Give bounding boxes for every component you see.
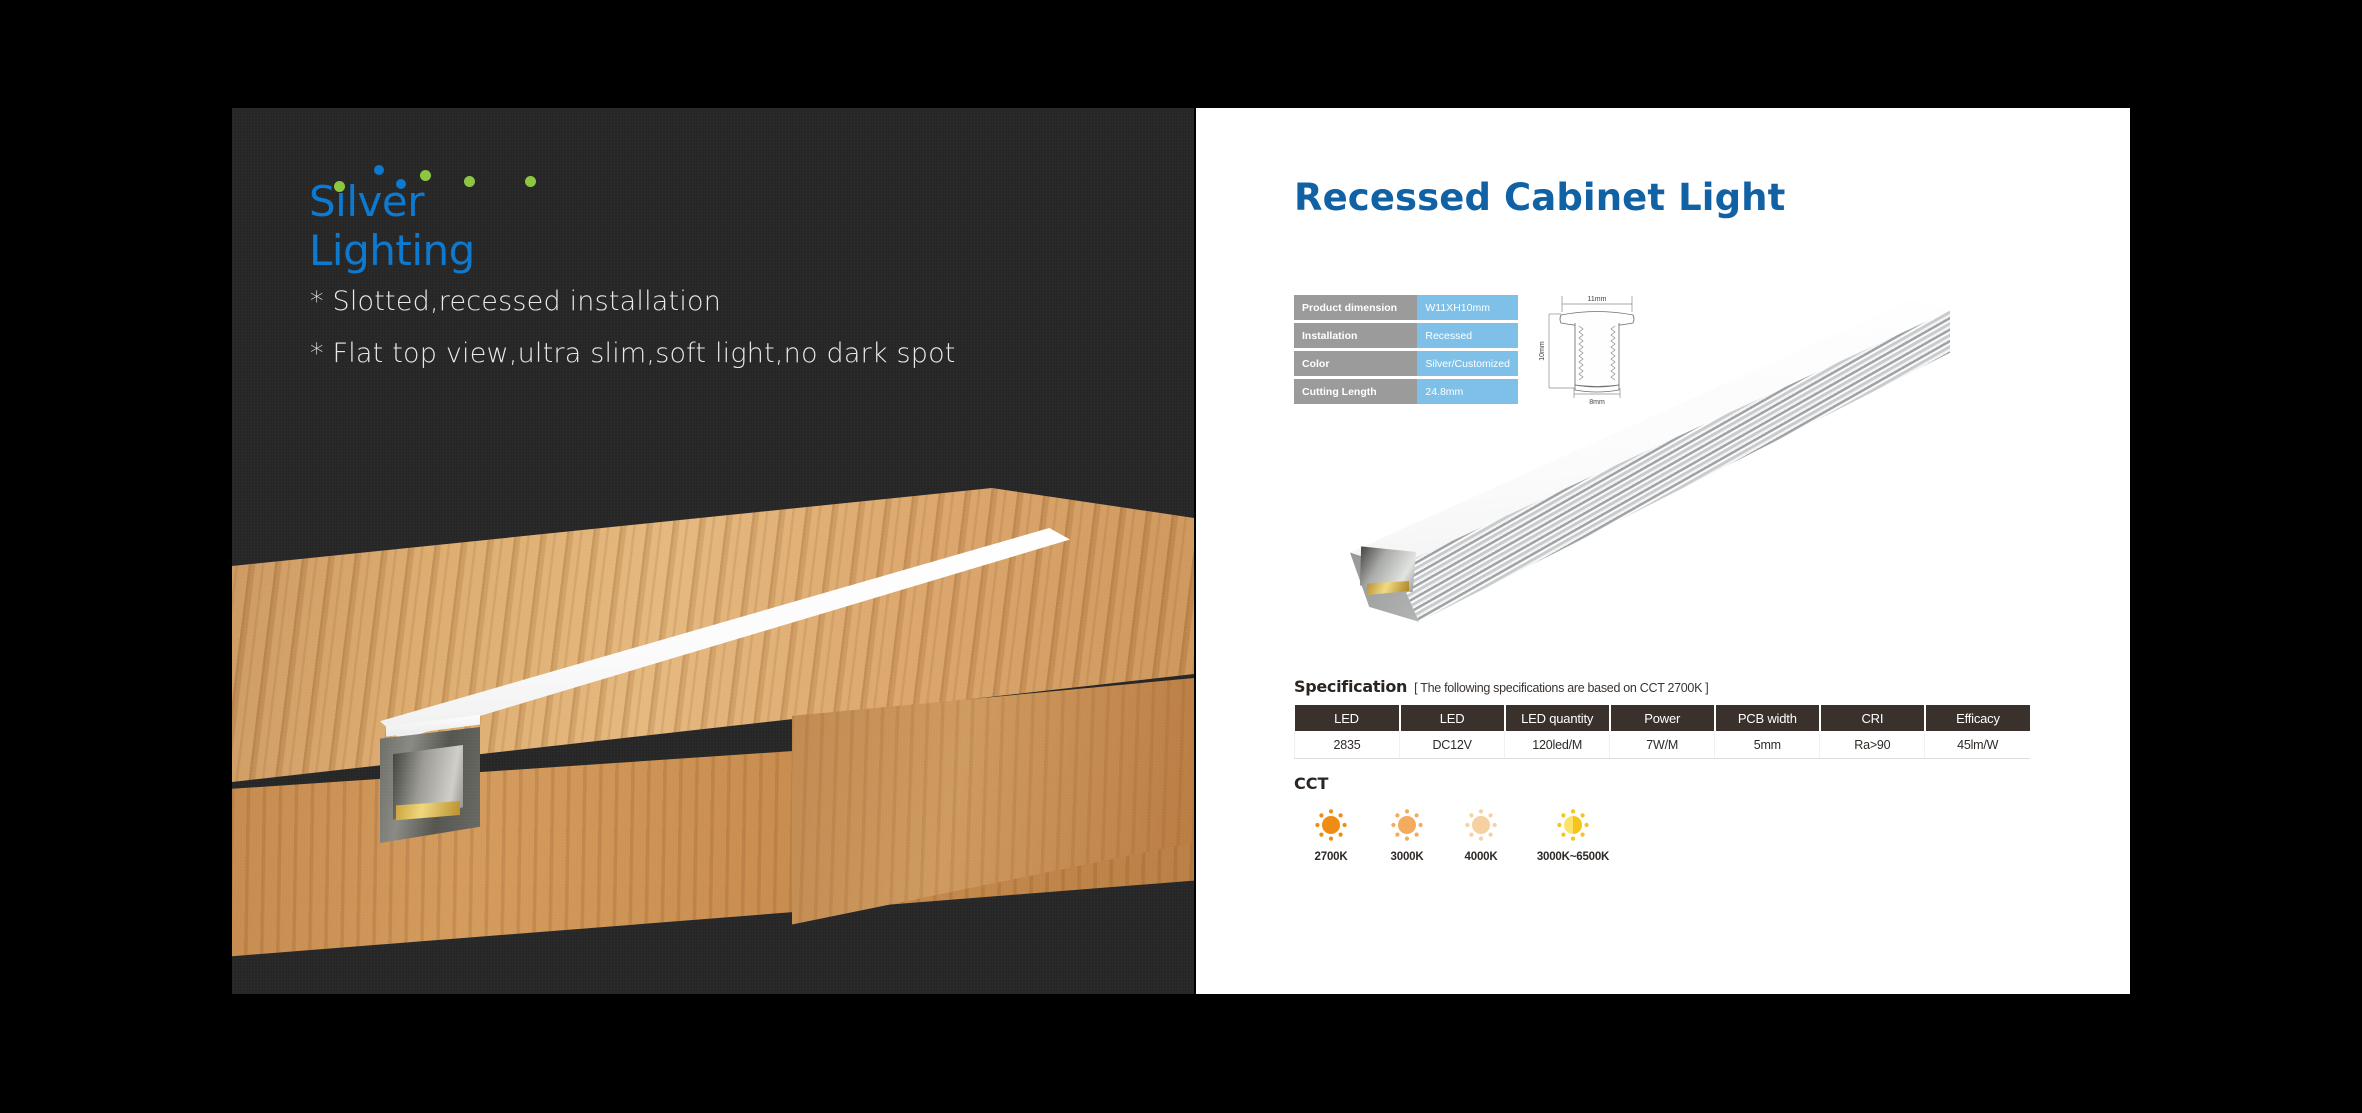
- cct-option-label: 4000K: [1465, 851, 1498, 863]
- spec-cell: 5mm: [1715, 731, 1820, 759]
- specification-table: LED LED LED quantity Power PCB width CRI…: [1294, 705, 2030, 759]
- cct-option-4000k[interactable]: 4000K: [1444, 808, 1518, 863]
- spec-col-header: Power: [1610, 705, 1715, 731]
- sun-icon: [1556, 808, 1590, 842]
- spec-cell: DC12V: [1400, 731, 1505, 759]
- spec-cell: 120led/M: [1505, 731, 1610, 759]
- logo-dot-green-3: [464, 176, 475, 187]
- cct-option-2700k[interactable]: 2700K: [1292, 808, 1370, 863]
- logo-dot-green-1: [334, 181, 345, 192]
- feature-bullet-2: * Flat top view,ultra slim,soft light,no…: [310, 340, 956, 367]
- feature-bullet-list: * Slotted,recessed installation * Flat t…: [310, 288, 956, 392]
- spec-col-header: CRI: [1820, 705, 1925, 731]
- brand-logo: Silver Lighting: [309, 163, 589, 233]
- table-row: 2835 DC12V 120led/M 7W/M 5mm Ra>90 45lm/…: [1295, 731, 2031, 759]
- spec-col-header: LED quantity: [1505, 705, 1610, 731]
- logo-dot-green-4: [525, 176, 536, 187]
- table-header-row: LED LED LED quantity Power PCB width CRI…: [1295, 705, 2031, 731]
- spec-cell: 7W/M: [1610, 731, 1715, 759]
- specification-title: Specification: [1294, 677, 1407, 696]
- specification-heading: Specification[ The following specificati…: [1294, 677, 1708, 697]
- spec-col-header: LED: [1295, 705, 1400, 731]
- cct-option-3000k-6500k[interactable]: 3000K~6500K: [1518, 808, 1628, 863]
- feature-bullet-1: * Slotted,recessed installation: [310, 288, 956, 315]
- logo-dot-green-2: [420, 170, 431, 181]
- spec-cell: 2835: [1295, 731, 1400, 759]
- spec-col-header: LED: [1400, 705, 1505, 731]
- logo-text: Silver Lighting: [309, 177, 589, 275]
- left-showcase-panel: Silver Lighting * Slotted,recessed insta…: [232, 108, 1194, 994]
- logo-dot-blue-2: [396, 179, 406, 189]
- cct-option-row: 2700K 3000K 4000K: [1292, 808, 1628, 863]
- product-application-render: [232, 488, 1194, 994]
- cct-option-label: 3000K~6500K: [1537, 851, 1609, 863]
- cct-section-label: CCT: [1294, 774, 1328, 793]
- channel-cutaway: [380, 713, 498, 843]
- product-3d-render: [1350, 300, 1950, 630]
- spec-col-header: Efficacy: [1925, 705, 2030, 731]
- cct-option-3000k[interactable]: 3000K: [1370, 808, 1444, 863]
- sun-icon: [1464, 808, 1498, 842]
- page-title: Recessed Cabinet Light: [1294, 176, 1785, 219]
- cct-option-label: 2700K: [1315, 851, 1348, 863]
- specification-note: [ The following specifications are based…: [1414, 681, 1708, 695]
- spec-cell: Ra>90: [1820, 731, 1925, 759]
- cct-option-label: 3000K: [1391, 851, 1424, 863]
- spec-col-header: PCB width: [1715, 705, 1820, 731]
- spec-cell: 45lm/W: [1925, 731, 2030, 759]
- sun-icon: [1390, 808, 1424, 842]
- logo-dot-blue-1: [374, 165, 384, 175]
- sun-icon: [1314, 808, 1348, 842]
